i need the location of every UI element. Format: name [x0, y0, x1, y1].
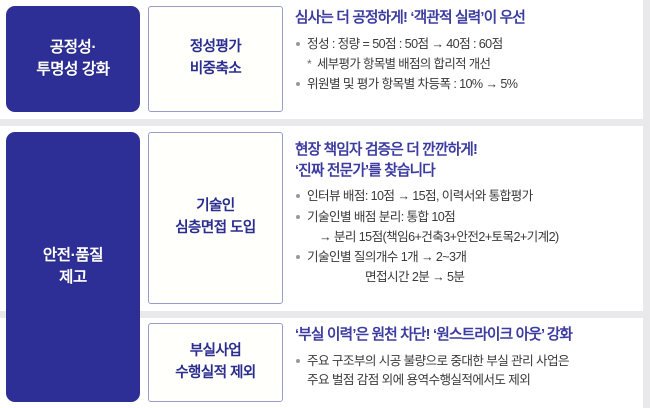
bullet-item: 면접시간 2분 → 5분: [295, 268, 640, 287]
bullet-item: 위원별 및 평가 항목별 차등폭 : 10% → 5%: [295, 75, 640, 94]
measure-label-qualitative-weight: 정성평가 비중축소: [190, 37, 241, 81]
measure-label-defective-project-exclusion: 부실사업 수행실적 제외: [175, 341, 256, 385]
category-block-safety-quality: 안전·품질 제고: [6, 132, 140, 402]
measure-label-indepth-interview: 기술인 심층면접 도입: [175, 196, 256, 240]
bullet-item: 기술인별 배점 분리: 통합 10점: [295, 208, 640, 227]
category-block-fairness: 공정성· 투명성 강화: [6, 6, 140, 112]
detail-heading-2: 현장 책임자 검증은 더 깐깐하게! ‘진짜 전문가’를 찾습니다: [295, 140, 640, 181]
bullet-item: → 분리 15점(책임6+건축3+안전2+토목2+기계2): [295, 228, 640, 247]
detail-heading-3: ‘부실 이력’은 원천 차단! ‘원스트라이크 아웃’ 강화: [295, 325, 640, 346]
right-margin-strip: [643, 0, 650, 408]
detail-panel-2: 현장 책임자 검증은 더 깐깐하게! ‘진짜 전문가’를 찾습니다 인터뷰 배점…: [295, 140, 640, 288]
bullet-item: 주요 구조부의 시공 불량으로 중대한 부실 관리 사업은 주요 벌점 감점 외…: [295, 352, 640, 390]
category-label-fairness: 공정성· 투명성 강화: [36, 37, 109, 82]
detail-heading-1: 심사는 더 공정하게! ‘객관적 실력’이 우선: [295, 8, 640, 29]
detail-panel-1: 심사는 더 공정하게! ‘객관적 실력’이 우선 정성 : 정량 = 50점 :…: [295, 8, 640, 95]
category-label-safety-quality: 안전·품질 제고: [43, 245, 103, 290]
measure-card-qualitative-weight: 정성평가 비중축소: [148, 6, 283, 112]
bullet-item: 인터뷰 배점: 10점 → 15점, 이력서와 통합평가: [295, 187, 640, 206]
detail-bullet-list-2: 인터뷰 배점: 10점 → 15점, 이력서와 통합평가 기술인별 배점 분리:…: [295, 187, 640, 287]
bullet-item: 정성 : 정량 = 50점 : 50점 → 40점 : 60점: [295, 35, 640, 54]
bullet-item: 세부평가 항목별 배점의 합리적 개선: [295, 55, 640, 74]
measure-card-indepth-interview: 기술인 심층면접 도입: [148, 132, 283, 304]
measure-card-defective-project-exclusion: 부실사업 수행실적 제외: [148, 323, 283, 402]
detail-bullet-list-1: 정성 : 정량 = 50점 : 50점 → 40점 : 60점 세부평가 항목별…: [295, 35, 640, 94]
detail-panel-3: ‘부실 이력’은 원천 차단! ‘원스트라이크 아웃’ 강화 주요 구조부의 시…: [295, 325, 640, 391]
policy-summary-board: 공정성· 투명성 강화 안전·품질 제고 정성평가 비중축소 기술인 심층면접 …: [0, 0, 650, 408]
bullet-item: 기술인별 질의개수 1개 → 2~3개: [295, 248, 640, 267]
detail-bullet-list-3: 주요 구조부의 시공 불량으로 중대한 부실 관리 사업은 주요 벌점 감점 외…: [295, 352, 640, 390]
